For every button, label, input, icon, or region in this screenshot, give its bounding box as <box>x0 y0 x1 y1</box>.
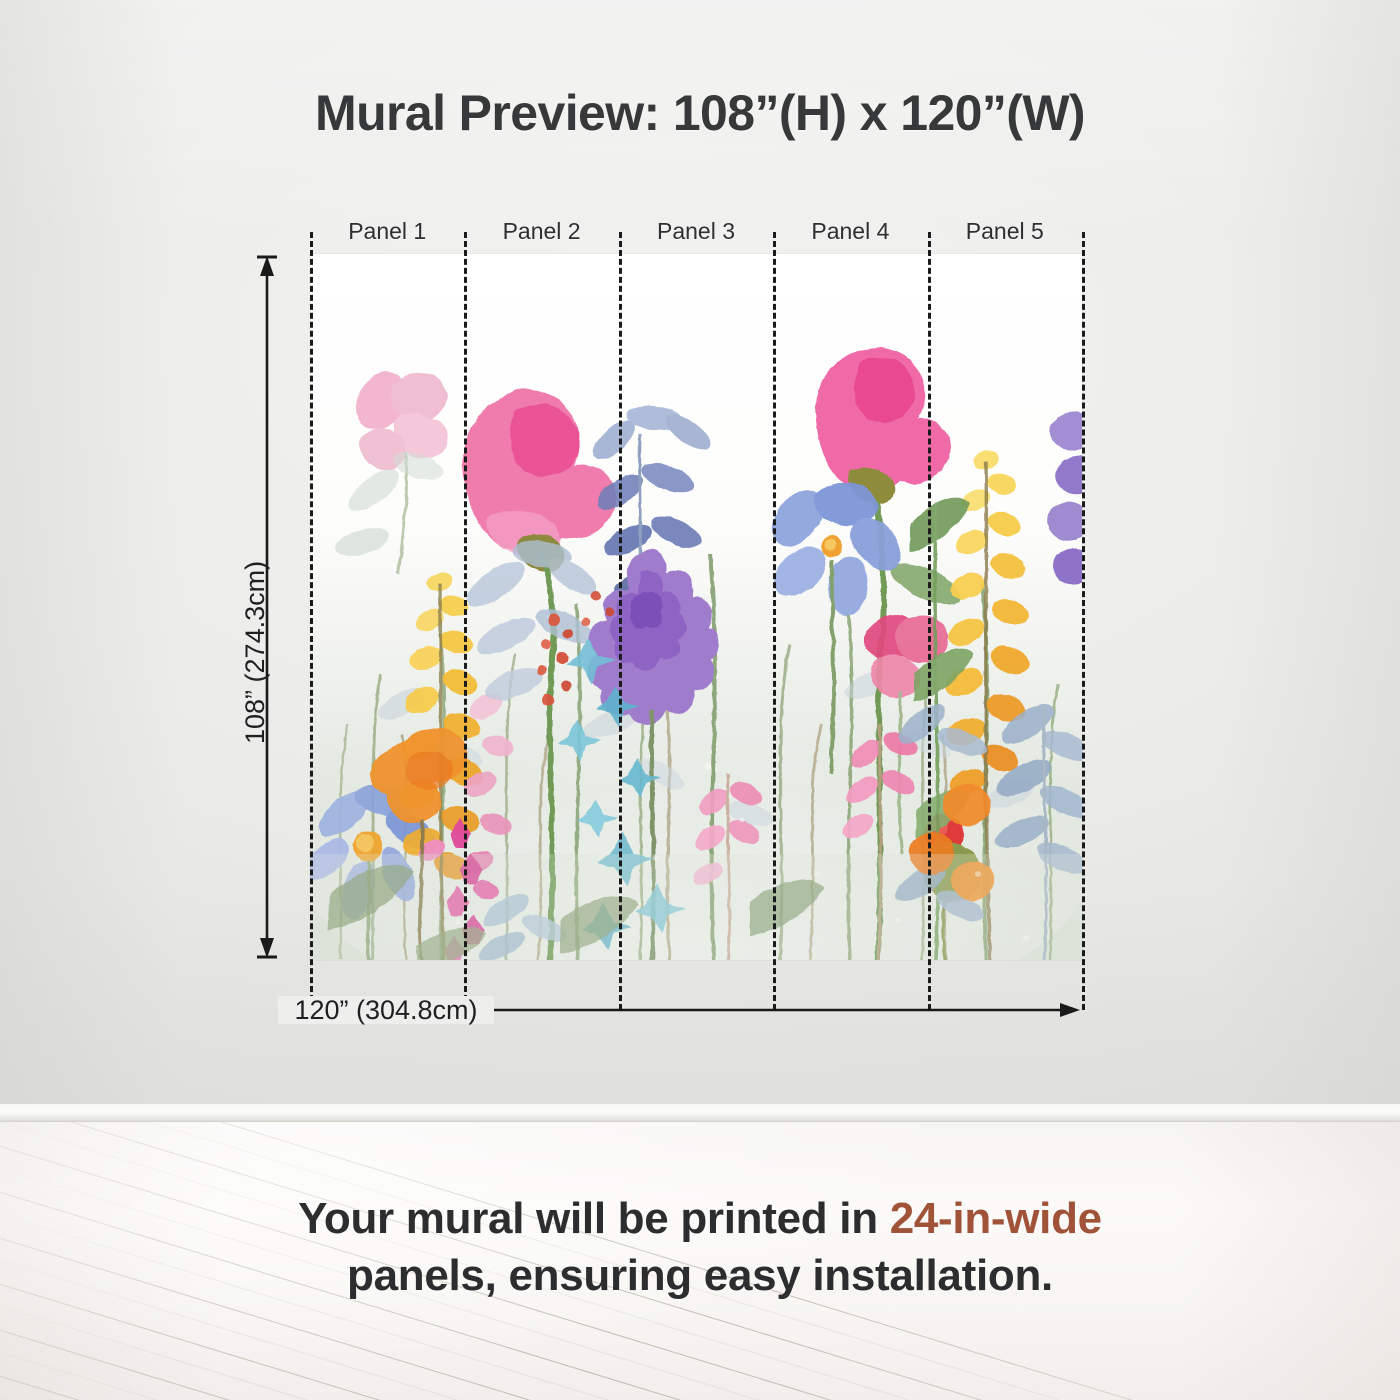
panel-divider-4 <box>928 232 931 1010</box>
caption-line-2: panels, ensuring easy installation. <box>0 1247 1400 1304</box>
panel-label-3: Panel 3 <box>619 218 773 245</box>
caption-accent-text: 24-in-wide <box>890 1194 1102 1243</box>
panel-label-5: Panel 5 <box>928 218 1082 245</box>
caption-line-1-prefix: Your mural will be printed in <box>298 1194 890 1243</box>
page-title: Mural Preview: 108”(H) x 120”(W) <box>0 84 1400 142</box>
footer-caption: Your mural will be printed in 24-in-wide… <box>0 1190 1400 1304</box>
panel-divider-1 <box>464 232 467 1010</box>
panel-divider-3 <box>773 232 776 1010</box>
mural-artwork <box>310 254 1082 960</box>
baseboard <box>0 1104 1400 1122</box>
width-dimension-label: 120” (304.8cm) <box>278 996 493 1024</box>
panel-divider-5 <box>1082 232 1085 1010</box>
caption-line-1: Your mural will be printed in 24-in-wide <box>0 1190 1400 1247</box>
mural-preview-scene: Mural Preview: 108”(H) x 120”(W) <box>0 0 1400 1400</box>
panel-label-2: Panel 2 <box>464 218 618 245</box>
height-dimension-label: 108” (274.3cm) <box>240 561 271 744</box>
width-dimension-label-wrap: 120” (304.8cm) <box>0 996 772 1024</box>
mural-artwork-container <box>310 254 1082 960</box>
panel-label-4: Panel 4 <box>773 218 927 245</box>
panel-label-1: Panel 1 <box>310 218 464 245</box>
panel-divider-2 <box>619 232 622 1010</box>
panel-divider-0 <box>310 232 313 1010</box>
height-dimension-label-wrap: 108” (274.3cm) <box>256 254 278 960</box>
